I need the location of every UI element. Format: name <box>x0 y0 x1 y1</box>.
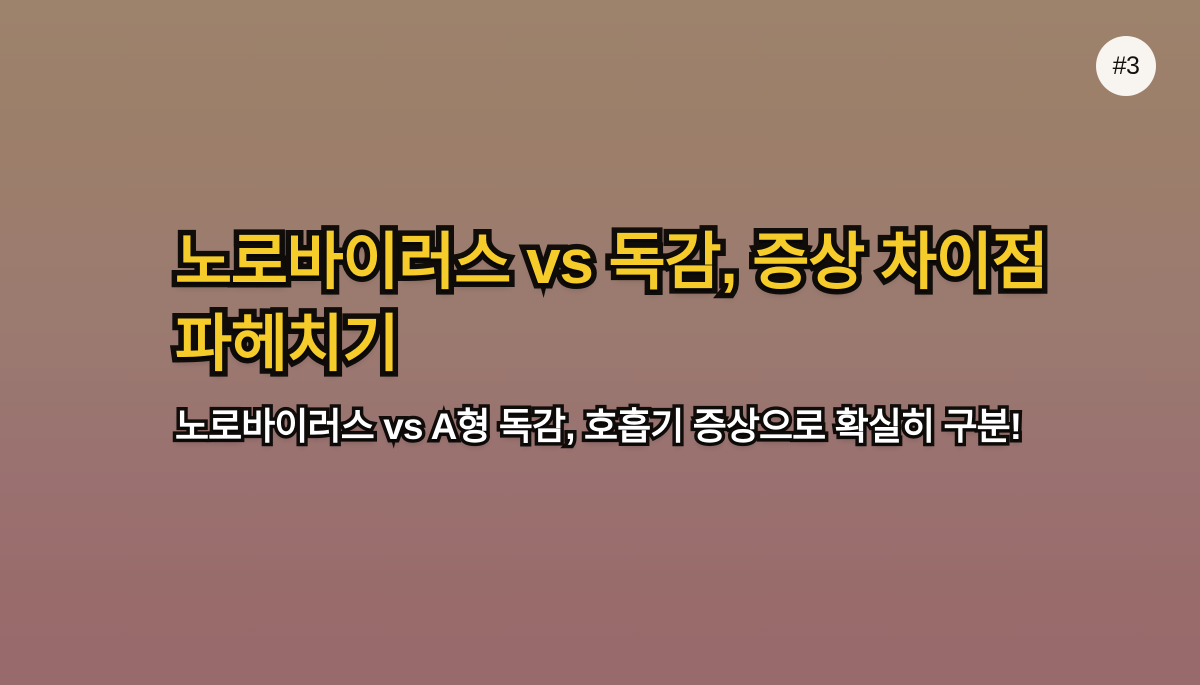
slide-subheadline: 노로바이러스 vs A형 독감, 호흡기 증상으로 확실히 구분! <box>175 404 1135 450</box>
slide-index-badge: #3 <box>1096 36 1156 96</box>
slide-text-block: 노로바이러스 vs 독감, 증상 차이점 파헤치기 노로바이러스 vs A형 독… <box>175 222 1135 450</box>
slide-canvas: #3 노로바이러스 vs 독감, 증상 차이점 파헤치기 노로바이러스 vs A… <box>0 0 1200 685</box>
slide-headline: 노로바이러스 vs 독감, 증상 차이점 파헤치기 <box>175 222 1135 386</box>
slide-index-badge-label: #3 <box>1113 54 1140 79</box>
